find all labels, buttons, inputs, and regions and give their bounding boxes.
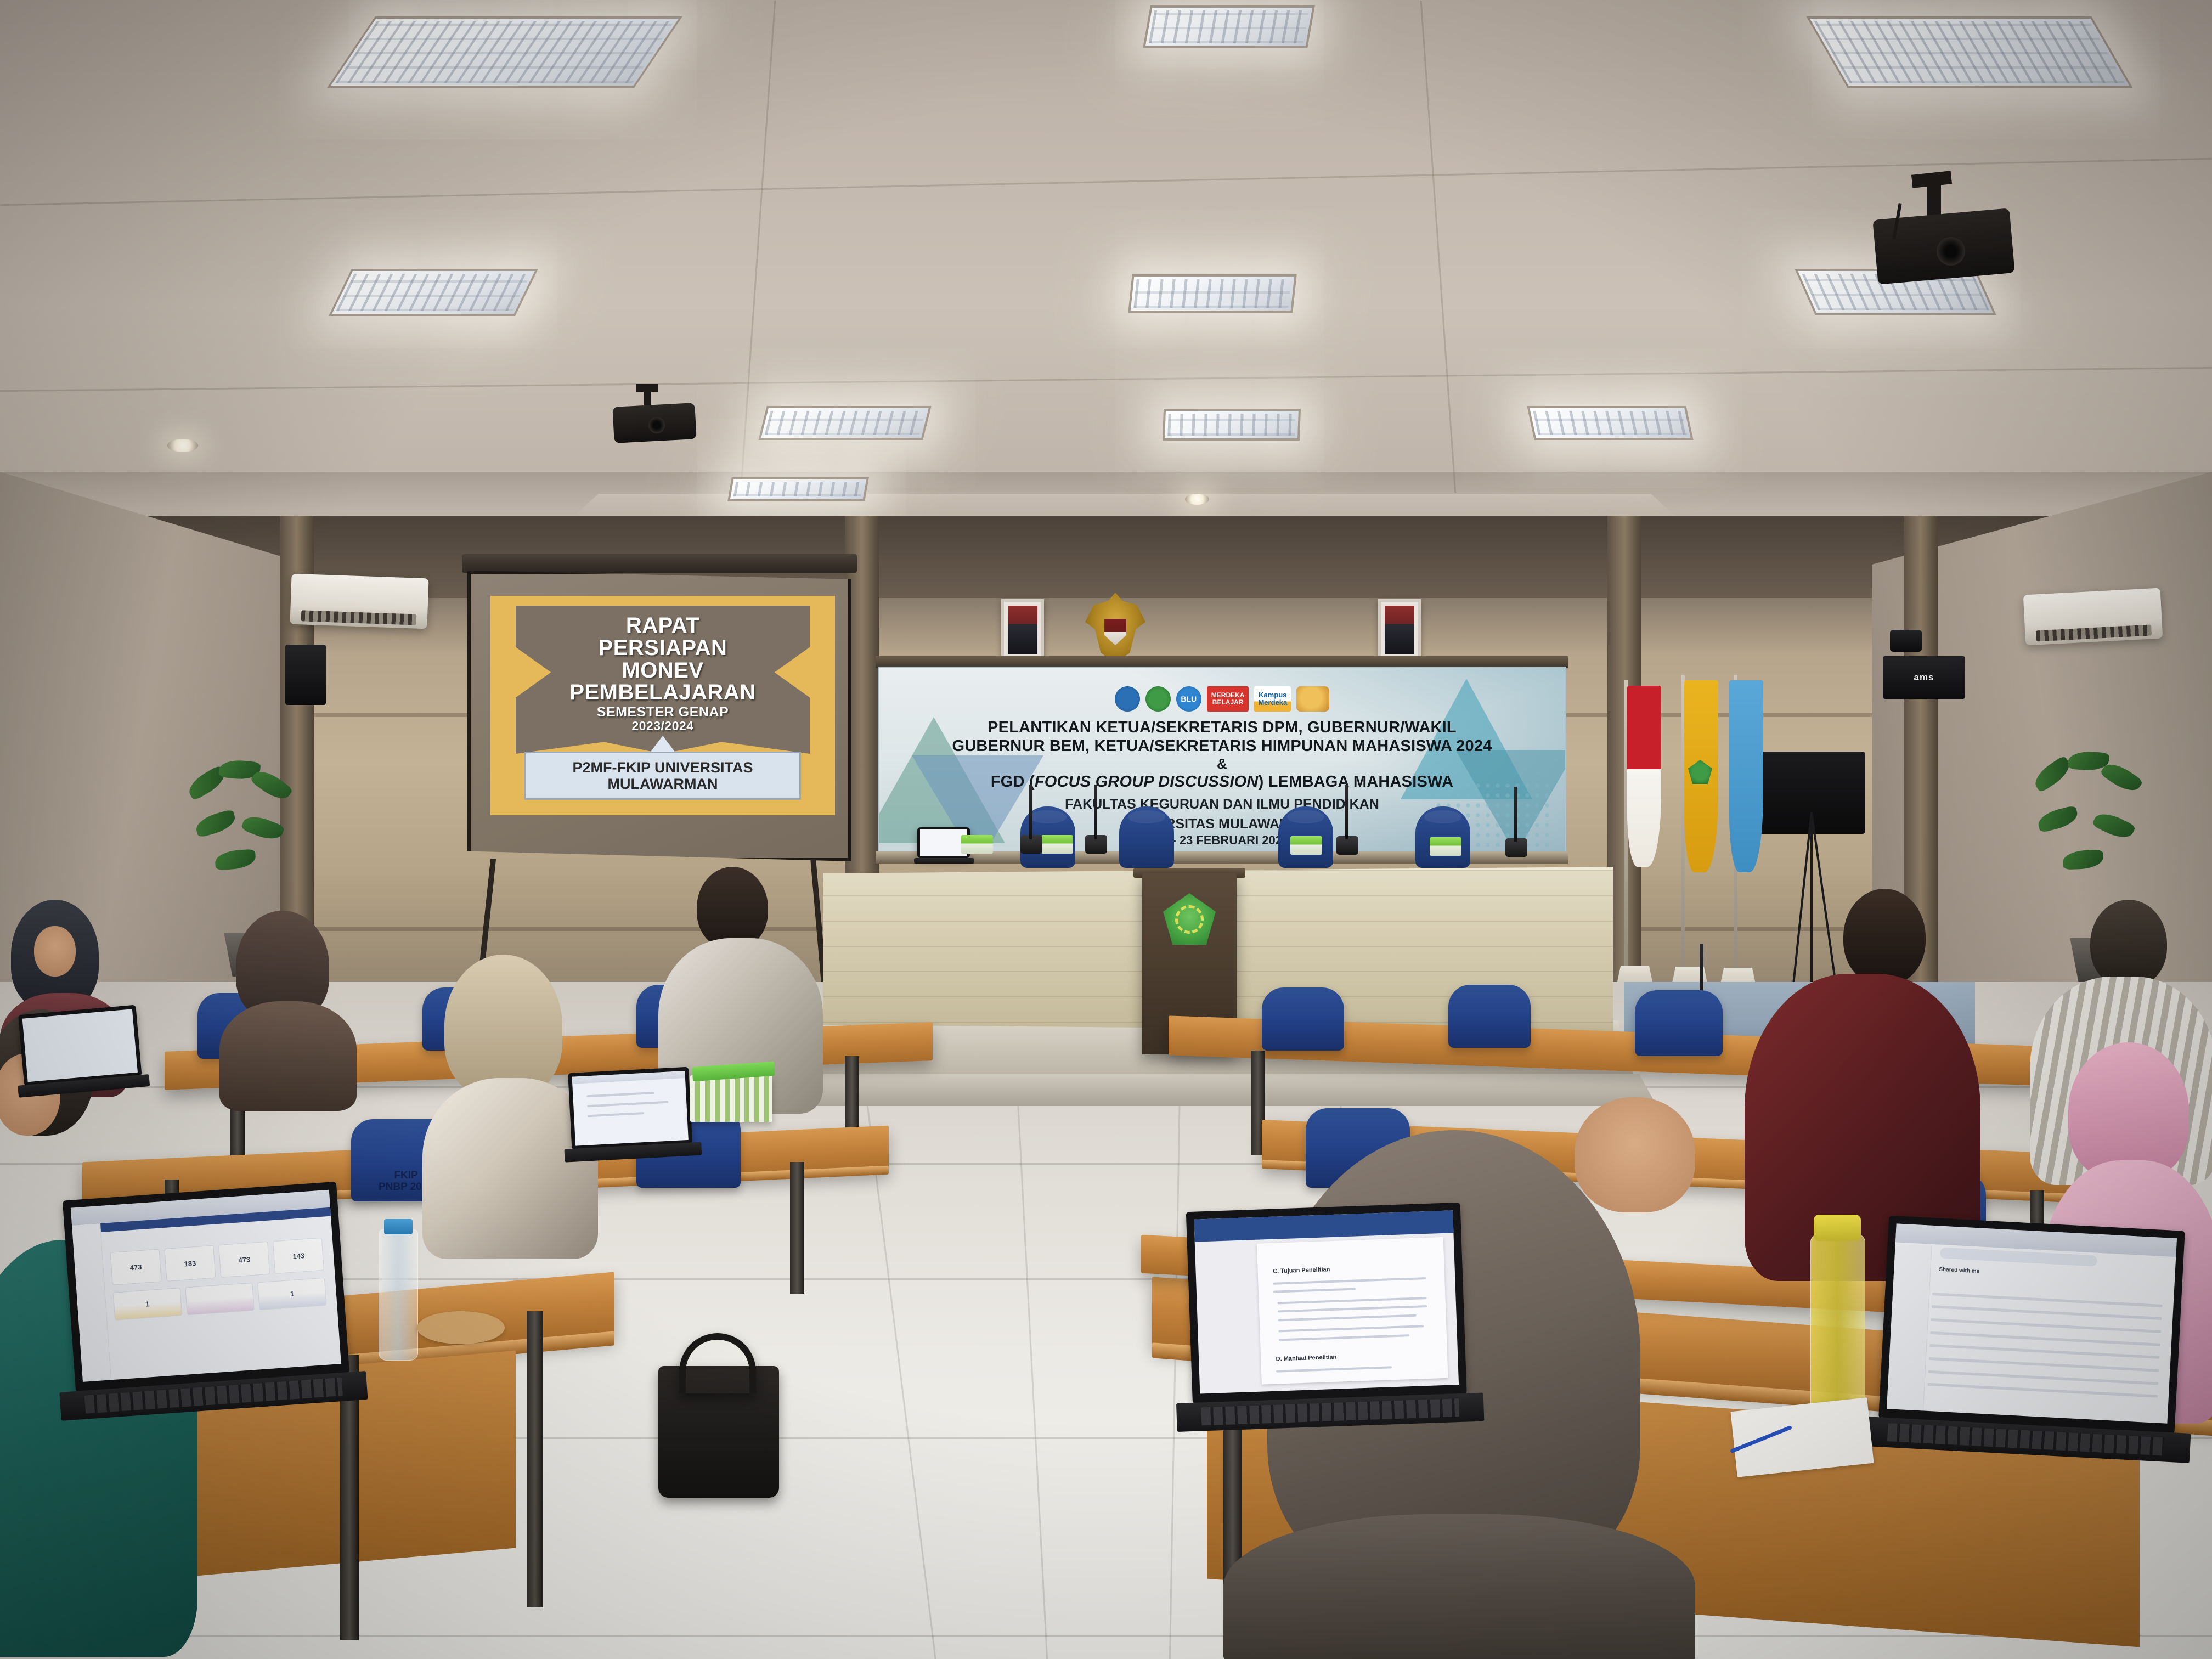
kampus-merdeka-logo: KampusMerdeka	[1254, 686, 1291, 712]
recessed-downlight	[1185, 494, 1209, 505]
word-ribbon-bar[interactable]	[1194, 1210, 1453, 1242]
wall-speaker: ams	[1883, 656, 1965, 699]
laptop-screen[interactable]: 473 183 473 143 1 1	[71, 1190, 341, 1382]
banner-title-line2: GUBERNUR BEM, KETUA/SEKRETARIS HIMPUNAN …	[893, 737, 1551, 755]
laptop-screen	[920, 830, 967, 856]
laptop-lid: C. Tujuan Penelitian D. Manfaat Peneliti…	[1186, 1203, 1467, 1404]
laptop-lid: Drive Shared with me	[1878, 1216, 2185, 1434]
universitas-mulawarman-emblem	[1163, 893, 1216, 945]
doc-text-line	[1279, 1334, 1409, 1341]
slide-footer-line1: P2MF-FKIP UNIVERSITAS	[572, 759, 753, 776]
banner-fgd-italic: FOCUS GROUP DISCUSSION	[1035, 773, 1259, 791]
flag-indonesia	[1627, 686, 1661, 867]
desk-microphone-stem	[1029, 785, 1032, 839]
slide-title-line4: PEMBELAJARAN	[569, 681, 755, 704]
laptop-dashboard[interactable]: 473 183 473 143 1 1	[63, 1181, 365, 1463]
drive-breadcrumb[interactable]: Shared with me	[1939, 1267, 1979, 1275]
drive-file-row[interactable]	[1931, 1318, 2161, 1333]
slide-title-line2: PERSIAPAN	[569, 637, 755, 659]
laptop-base	[914, 858, 974, 864]
bottle-cap	[384, 1219, 413, 1234]
slide-title-line1: RAPAT	[569, 614, 755, 637]
laptop-google-drive[interactable]: Drive Shared with me	[1875, 1216, 2196, 1506]
recessed-downlight	[167, 439, 198, 452]
person-torso	[219, 1001, 357, 1111]
doc-text-line	[1273, 1277, 1426, 1285]
ceiling-light-fixture	[1143, 5, 1315, 48]
person-hijab	[444, 955, 562, 1097]
plant-leaf	[2091, 809, 2136, 843]
split-air-conditioner	[2023, 588, 2163, 646]
wall-speaker	[285, 645, 326, 705]
laptop-row2-left[interactable]	[568, 1066, 699, 1177]
banner-title: PELANTIKAN KETUA/SEKRETARIS DPM, GUBERNU…	[893, 718, 1551, 791]
plant-leaf	[194, 809, 238, 838]
mini-chart-card[interactable]	[185, 1283, 255, 1315]
drive-file-row[interactable]	[1932, 1293, 2163, 1307]
ceiling-light-fixture	[1527, 406, 1693, 440]
tumbler-cap	[1814, 1215, 1861, 1241]
stat-card[interactable]: 473	[218, 1242, 270, 1278]
mini-chart-card[interactable]: 1	[258, 1278, 327, 1310]
paper-sheet[interactable]	[417, 1311, 505, 1344]
drive-file-row[interactable]	[1928, 1370, 2158, 1385]
laptop-back-left[interactable]	[18, 1004, 152, 1108]
presentation-slide: RAPAT PERSIAPAN MONEV PEMBELAJARAN SEMES…	[490, 596, 835, 815]
laptop-screen[interactable]: Drive Shared with me	[1887, 1223, 2177, 1423]
blu-logo: BLU	[1176, 686, 1201, 712]
doc-text-line	[1278, 1314, 1416, 1321]
floor-tile-line	[0, 1635, 2212, 1637]
slide-title-line3: MONEV	[569, 659, 755, 682]
browser-chrome	[572, 1071, 685, 1084]
screen-text-line	[588, 1112, 644, 1117]
emblem-gear-icon	[1175, 905, 1204, 934]
person-head	[697, 867, 768, 949]
laptop-lid	[568, 1067, 692, 1150]
laptop-keyboard[interactable]	[1201, 1398, 1459, 1425]
portrait-vice-president	[1378, 599, 1421, 661]
desk-leg	[790, 1162, 804, 1294]
plant-leaf	[215, 849, 256, 870]
plant-leaf	[2062, 850, 2103, 870]
stat-card[interactable]: 183	[165, 1245, 216, 1282]
person-torso	[1223, 1514, 1695, 1659]
ceiling-light-fixture	[727, 477, 869, 501]
ceiling-light-fixture	[1163, 409, 1301, 441]
drive-file-row[interactable]	[1928, 1357, 2159, 1372]
banner-ampersand: &	[893, 755, 1551, 772]
stage-chair[interactable]	[1119, 806, 1174, 868]
laptop-lid	[18, 1005, 142, 1086]
portrait-president	[1001, 599, 1044, 661]
drive-file-row[interactable]	[1927, 1383, 2158, 1398]
banner-fgd-post: ) LEMBAGA MAHASISWA	[1259, 773, 1454, 791]
doc-text-line	[1279, 1325, 1424, 1333]
yellow-tumbler[interactable]	[1810, 1234, 1865, 1421]
hand-shape	[1575, 1097, 1695, 1212]
laptop-lid: 473 183 473 143 1 1	[63, 1182, 349, 1392]
projector-lens-icon	[648, 417, 665, 433]
person-hijab	[2068, 1042, 2189, 1180]
doc-text-line	[1278, 1297, 1427, 1304]
projection-screen-housing	[462, 554, 857, 573]
doc-text-line	[1273, 1288, 1356, 1293]
slide-year: 2023/2024	[569, 720, 755, 732]
stage-nameplate	[961, 835, 993, 854]
projector-lens-icon	[1937, 237, 1965, 266]
doc-text-line	[1278, 1305, 1427, 1312]
banner-logo-row: BLU MERDEKABELAJAR KampusMerdeka	[879, 686, 1565, 712]
desk-microphone-stem	[1094, 785, 1097, 839]
merdeka-belajar-logo: MERDEKABELAJAR	[1207, 686, 1249, 712]
document-page: C. Tujuan Penelitian D. Manfaat Peneliti…	[1257, 1237, 1448, 1385]
meeting-room-photo: ams RAPAT PERSIAPAN MONEV PEMBELAJARAN S…	[0, 0, 2212, 1659]
stage-nameplate	[1041, 835, 1073, 854]
projector-ceiling-mount-pole	[1927, 184, 1941, 217]
stage-step	[779, 1074, 1657, 1106]
plant-leaf	[2036, 805, 2080, 833]
stat-card[interactable]: 143	[273, 1238, 324, 1274]
doc-heading-1: C. Tujuan Penelitian	[1273, 1266, 1330, 1275]
speaker-brand-label: ams	[1914, 672, 1934, 683]
water-bottle[interactable]	[379, 1229, 418, 1361]
screen-text-line	[587, 1101, 668, 1108]
banner-fgd-pre: FGD (	[991, 773, 1035, 791]
ceiling-light-fixture	[1128, 274, 1296, 313]
person-head	[2090, 900, 2167, 988]
split-air-conditioner	[290, 574, 428, 629]
wall-monitor	[1750, 752, 1865, 834]
projection-screen[interactable]: RAPAT PERSIAPAN MONEV PEMBELAJARAN SEMES…	[467, 571, 851, 861]
doc-text-line	[1276, 1366, 1392, 1372]
plant-leaf	[240, 811, 285, 844]
ceiling-light-fixture	[329, 269, 538, 316]
desk-microphone-stem	[1514, 787, 1517, 842]
laptop-word-document[interactable]: C. Tujuan Penelitian D. Manfaat Peneliti…	[1186, 1202, 1480, 1475]
stage-nameplate	[1290, 836, 1322, 855]
slide-footer: P2MF-FKIP UNIVERSITAS MULAWARMAN	[524, 752, 801, 800]
tissue-box[interactable]	[690, 1075, 772, 1122]
banner-title-line1: PELANTIKAN KETUA/SEKRETARIS DPM, GUBERNU…	[893, 718, 1551, 737]
slide-semester: SEMESTER GENAP	[569, 706, 755, 720]
mascot-logo	[1296, 686, 1329, 712]
person-seated	[219, 911, 362, 1092]
drive-file-row[interactable]	[1929, 1344, 2160, 1359]
laptop-screen[interactable]	[572, 1071, 689, 1146]
security-camera	[1890, 630, 1922, 652]
drive-sidebar[interactable]	[1887, 1244, 1932, 1411]
ceiling-light-fixture	[327, 16, 682, 88]
doc-heading-2: D. Manfaat Penelitian	[1276, 1354, 1336, 1363]
slide-footer-line2: MULAWARMAN	[608, 776, 718, 792]
chair[interactable]	[1635, 990, 1723, 1056]
flag-fkip	[1729, 680, 1763, 872]
tut-wuri-handayani-logo	[1115, 686, 1140, 712]
universitas-mulawarman-logo	[1145, 686, 1171, 712]
drive-file-row[interactable]	[1931, 1305, 2162, 1320]
ceiling-light-fixture	[1806, 16, 2132, 88]
person-head	[1843, 889, 1926, 985]
ceiling-light-fixture	[758, 406, 931, 440]
person-face	[34, 926, 76, 977]
person-hand	[1575, 1097, 1706, 1229]
desk-microphone-stem	[1345, 785, 1348, 839]
desk-leg	[527, 1311, 543, 1607]
laptop-screen[interactable]: C. Tujuan Penelitian D. Manfaat Peneliti…	[1194, 1210, 1459, 1393]
chair[interactable]	[1448, 985, 1531, 1048]
laptop-screen[interactable]	[22, 1009, 138, 1082]
slide-title: RAPAT PERSIAPAN MONEV PEMBELAJARAN SEMES…	[569, 614, 755, 732]
stat-card[interactable]: 473	[110, 1249, 162, 1285]
dashboard-sidebar[interactable]	[72, 1223, 111, 1382]
drive-file-row[interactable]	[1930, 1331, 2160, 1346]
mini-chart-card[interactable]: 1	[113, 1288, 182, 1320]
chair[interactable]	[1262, 988, 1344, 1051]
stage-nameplate	[1430, 837, 1462, 856]
banner-fgd-line: FGD (FOCUS GROUP DISCUSSION) LEMBAGA MAH…	[893, 772, 1551, 791]
screen-text-line	[586, 1092, 654, 1097]
